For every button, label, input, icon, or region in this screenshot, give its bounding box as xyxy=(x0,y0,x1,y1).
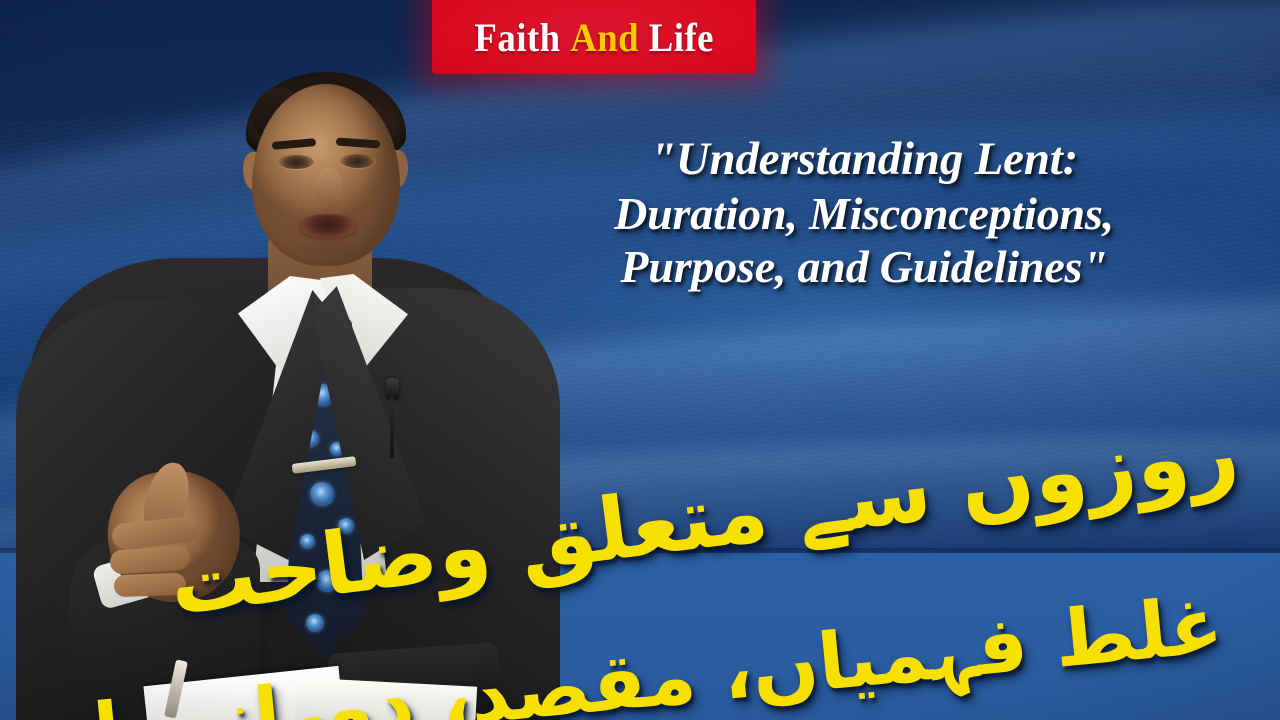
english-title-line-2: Duration, Misconceptions, xyxy=(494,187,1234,240)
english-title-line-1: "Understanding Lent: xyxy=(494,132,1234,187)
channel-logo-text: Faith And Life xyxy=(474,6,714,61)
logo-word-faith: Faith xyxy=(474,15,560,60)
channel-logo-banner[interactable]: Faith And Life xyxy=(432,0,756,74)
english-title: "Understanding Lent: Duration, Misconcep… xyxy=(494,132,1234,293)
logo-word-and: And xyxy=(570,15,639,60)
video-thumbnail: Faith And Life "Understanding Lent: Dura… xyxy=(0,0,1280,720)
english-title-line-3: Purpose, and Guidelines" xyxy=(494,240,1234,293)
logo-word-life: Life xyxy=(649,15,714,60)
